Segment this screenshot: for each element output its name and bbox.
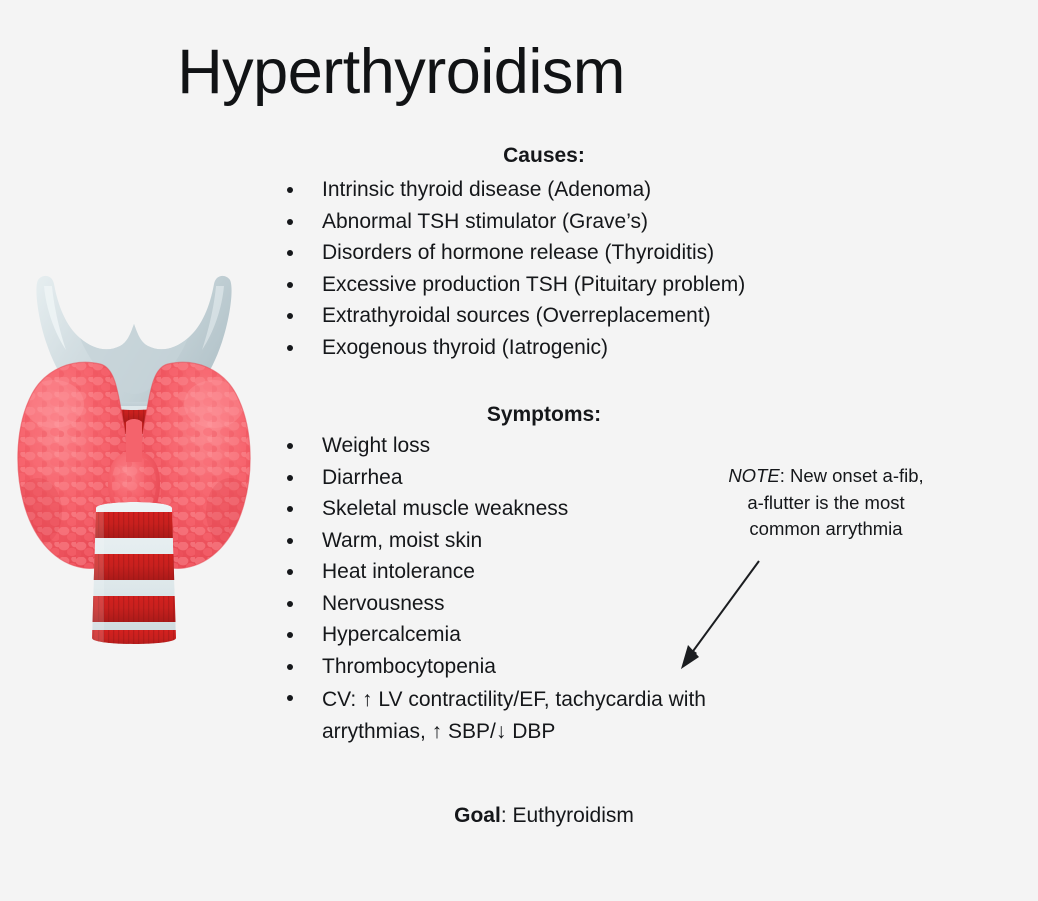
symptoms-heading: Symptoms: xyxy=(264,403,824,427)
list-item: Thrombocytopenia xyxy=(283,651,706,683)
note-label: NOTE xyxy=(728,465,779,486)
goal-line: Goal: Euthyroidism xyxy=(264,804,824,828)
list-item: Warm, moist skin xyxy=(283,525,706,557)
goal-separator: : xyxy=(501,804,513,827)
list-item: Weight loss xyxy=(283,430,706,462)
page-title: Hyperthyroidism xyxy=(0,38,1038,106)
note-separator: : xyxy=(780,465,790,486)
list-item: Extrathyroidal sources (Overreplacement) xyxy=(283,300,745,332)
causes-list: Intrinsic thyroid disease (Adenoma) Abno… xyxy=(283,174,745,363)
list-item-cardiovascular: CV: ↑ LV contractility/EF, tachycardia w… xyxy=(283,682,706,748)
list-item: Excessive production TSH (Pituitary prob… xyxy=(283,269,745,301)
list-item: Hypercalcemia xyxy=(283,619,706,651)
list-item: Exogenous thyroid (Iatrogenic) xyxy=(283,332,745,364)
causes-heading: Causes: xyxy=(264,144,824,168)
list-item: Abnormal TSH stimulator (Grave’s) xyxy=(283,206,745,238)
list-item: Skeletal muscle weakness xyxy=(283,493,706,525)
symptoms-list: Weight loss Diarrhea Skeletal muscle wea… xyxy=(283,430,706,748)
list-item: Nervousness xyxy=(283,588,706,620)
list-item: Intrinsic thyroid disease (Adenoma) xyxy=(283,174,745,206)
goal-value: Euthyroidism xyxy=(512,804,633,827)
trachea xyxy=(88,502,184,648)
list-item: Diarrhea xyxy=(283,462,706,494)
list-item: Disorders of hormone release (Thyroiditi… xyxy=(283,237,745,269)
note-callout: NOTE: New onset a-fib, a-flutter is the … xyxy=(728,463,924,543)
thyroid-gland-illustration xyxy=(8,272,260,652)
list-item: Heat intolerance xyxy=(283,556,706,588)
goal-label: Goal xyxy=(454,804,501,827)
infographic-canvas: Hyperthyroidism xyxy=(0,0,1038,901)
